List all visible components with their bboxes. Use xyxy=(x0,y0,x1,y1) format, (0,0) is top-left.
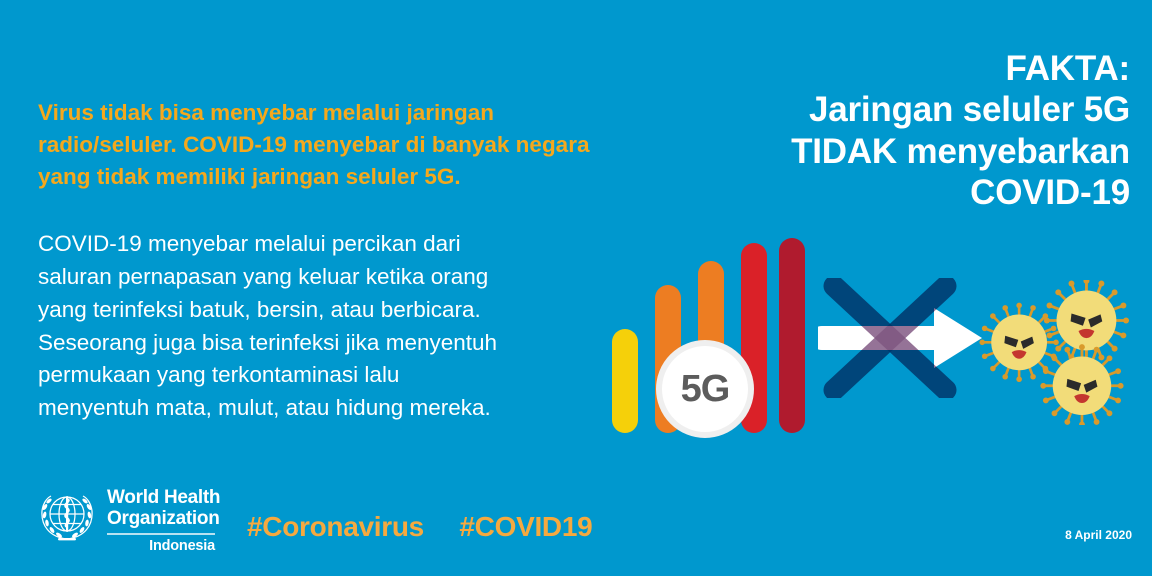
headline-line-3: TIDAK menyebarkan xyxy=(590,131,1130,172)
who-org-line-1: World Health xyxy=(107,488,220,509)
who-divider xyxy=(107,533,215,535)
headline: FAKTA: Jaringan seluler 5G TIDAK menyeba… xyxy=(590,48,1130,213)
body-line-1: COVID-19 menyebar melalui percikan dari xyxy=(38,228,618,261)
virus-cluster-icon xyxy=(965,280,1152,425)
hashtags: #Coronavirus #COVID19 xyxy=(247,511,592,543)
body-line-5: permukaan yang terkontaminasi lalu xyxy=(38,359,618,392)
who-emblem-icon xyxy=(36,487,98,549)
lead-paragraph: Virus tidak bisa menyebar melalui jaring… xyxy=(38,97,608,193)
who-country-label: Indonesia xyxy=(107,538,215,554)
date-stamp: 8 April 2020 xyxy=(1065,528,1132,542)
hashtag-coronavirus: #Coronavirus xyxy=(247,511,424,543)
who-logo: World Health Organization Indonesia xyxy=(36,487,220,554)
virus-particle-3 xyxy=(1040,344,1123,425)
headline-line-4: COVID-19 xyxy=(590,172,1130,213)
body-line-2: saluran pernapasan yang keluar ketika or… xyxy=(38,261,618,294)
headline-line-1: FAKTA: xyxy=(590,48,1130,89)
five-g-label: 5G xyxy=(681,370,730,408)
five-g-badge-icon: 5G xyxy=(656,340,754,438)
body-line-3: yang terinfeksi batuk, bersin, atau berb… xyxy=(38,294,618,327)
body-paragraph: COVID-19 menyebar melalui percikan dari … xyxy=(38,228,618,425)
blocked-transmission-icon xyxy=(818,278,988,398)
signal-bar-5 xyxy=(779,238,805,433)
who-logo-text: World Health Organization Indonesia xyxy=(107,487,220,554)
hashtag-covid19: #COVID19 xyxy=(459,511,592,543)
who-org-line-2: Organization xyxy=(107,509,220,530)
body-line-4: Seseorang juga bisa terinfeksi jika meny… xyxy=(38,327,618,360)
body-line-6: menyentuh mata, mulut, atau hidung merek… xyxy=(38,392,618,425)
headline-line-2: Jaringan seluler 5G xyxy=(590,89,1130,130)
who-covid-infographic: FAKTA: Jaringan seluler 5G TIDAK menyeba… xyxy=(0,0,1152,576)
signal-bar-1 xyxy=(612,329,638,433)
virus-particle-2 xyxy=(1044,280,1129,363)
